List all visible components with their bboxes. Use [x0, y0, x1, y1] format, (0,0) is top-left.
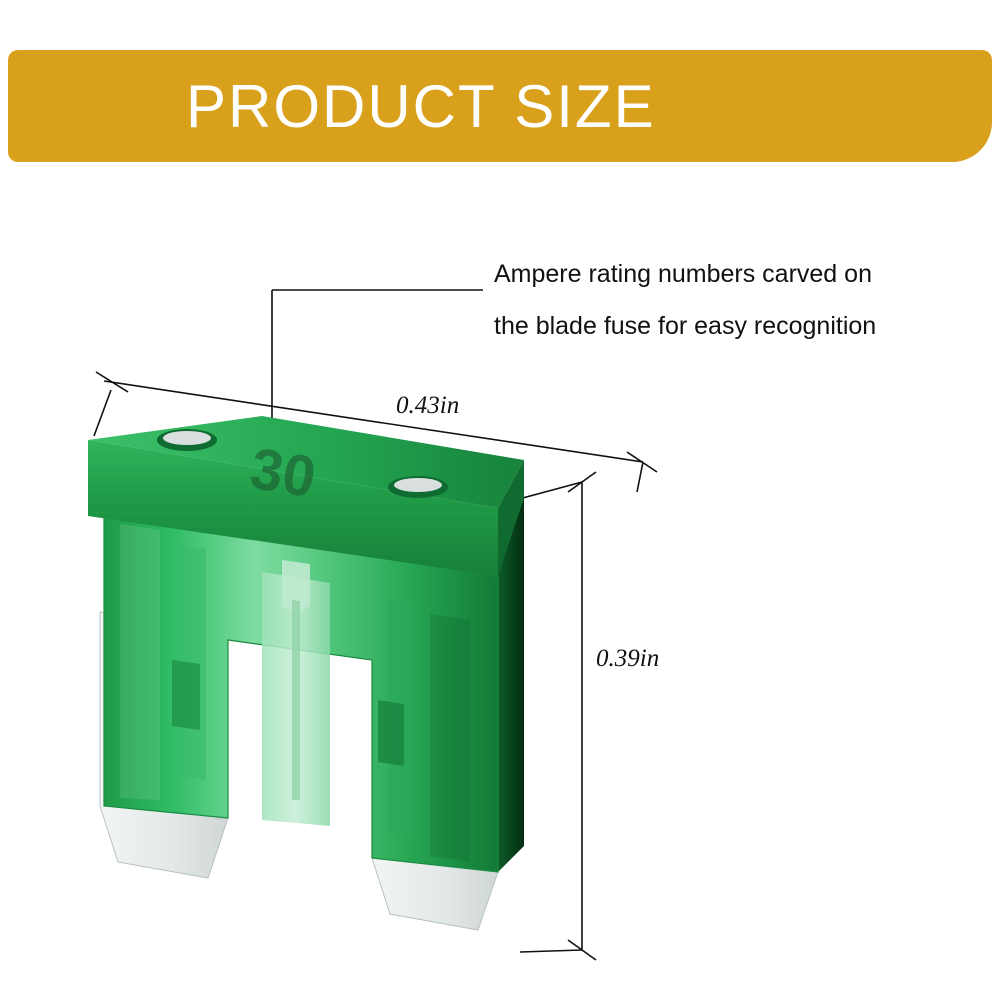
product-illustration: 30 — [0, 0, 1000, 1000]
fuse-amperage-marking: 30 — [246, 436, 320, 511]
